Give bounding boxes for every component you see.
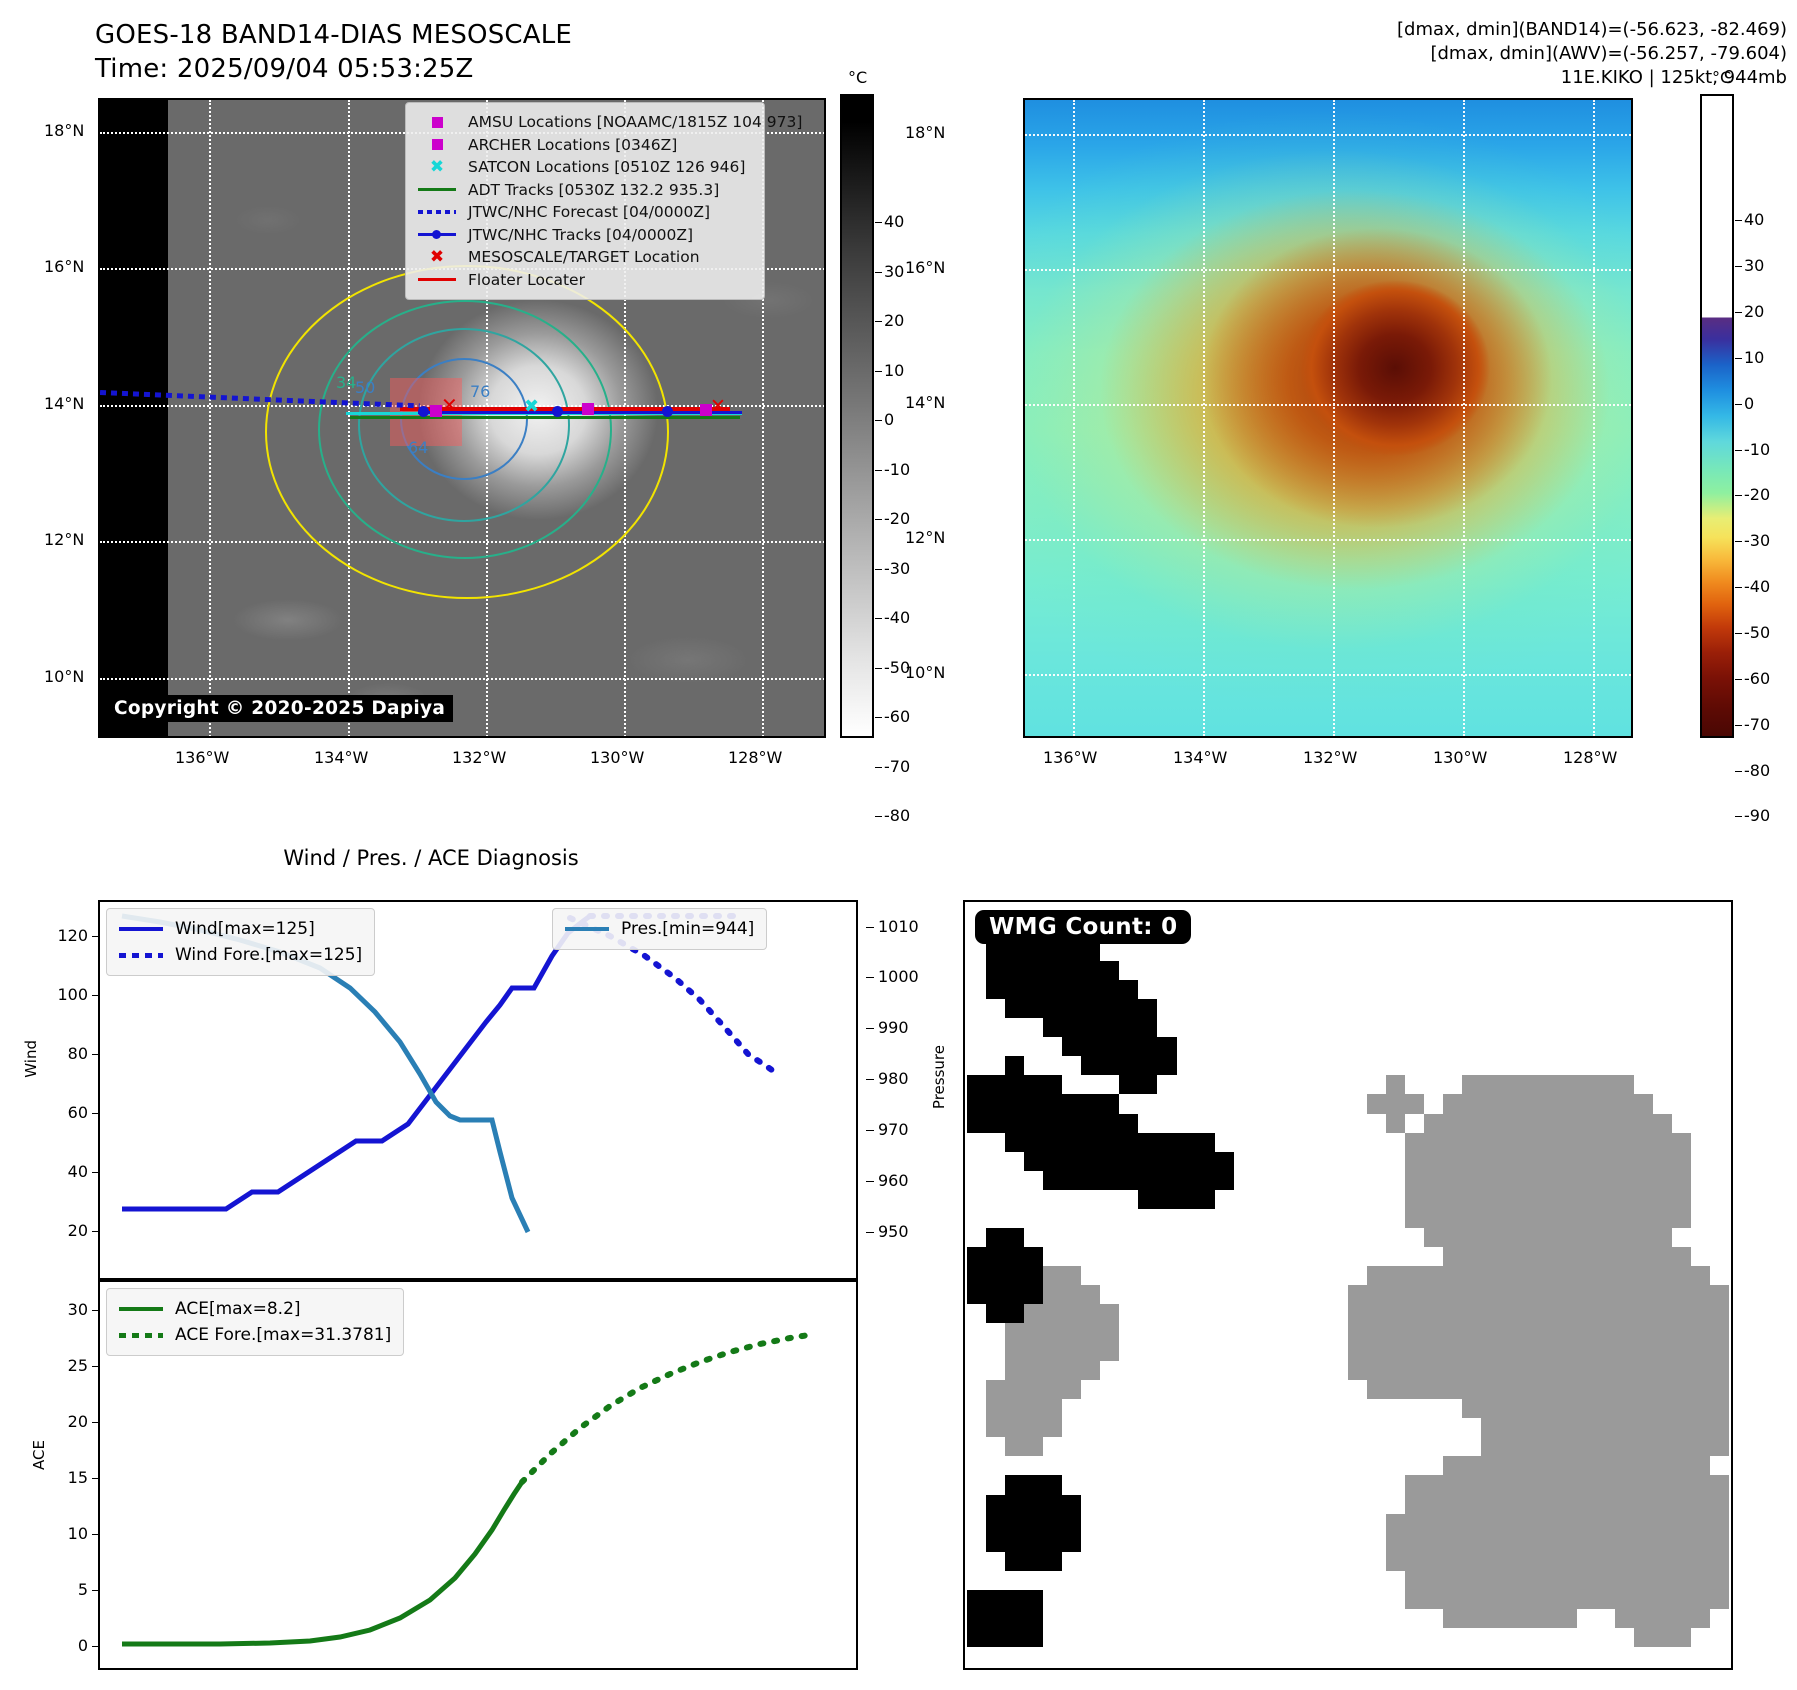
wmg-cell xyxy=(967,1056,986,1075)
wmg-cell xyxy=(1157,1285,1176,1304)
ir-lon-tick-130: 130°W xyxy=(590,748,644,767)
wmg-cell xyxy=(1234,1037,1253,1056)
wmg-cell xyxy=(1138,1361,1157,1380)
wmg-cell xyxy=(1081,1247,1100,1266)
wmg-cell xyxy=(1596,1304,1615,1323)
wmg-cell xyxy=(1691,1094,1710,1113)
wmg-cell xyxy=(1081,999,1100,1018)
wmg-cell xyxy=(1024,980,1043,999)
wmg-cell xyxy=(1196,961,1215,980)
wmg-cell xyxy=(1634,1056,1653,1075)
wmg-cell xyxy=(1348,1418,1367,1437)
wmg-cell xyxy=(1424,1342,1443,1361)
wmg-cell xyxy=(1558,961,1577,980)
wmg-cell xyxy=(1672,980,1691,999)
wmg-cell xyxy=(1691,1304,1710,1323)
wmg-cell xyxy=(1615,1323,1634,1342)
wmg-cell xyxy=(1538,1209,1557,1228)
wmg-cell xyxy=(1710,923,1729,942)
wmg-cell xyxy=(1538,1304,1557,1323)
wmg-cell xyxy=(1215,1152,1234,1171)
wmg-cell xyxy=(1253,923,1272,942)
wmg-cell xyxy=(1691,1266,1710,1285)
wmg-cell xyxy=(1348,1133,1367,1152)
wmg-cell xyxy=(1310,1152,1329,1171)
wmg-cell xyxy=(1481,1647,1500,1666)
wmg-cell xyxy=(1272,1056,1291,1075)
wmg-cell xyxy=(1577,961,1596,980)
wmg-cell xyxy=(967,1475,986,1494)
wmg-cell xyxy=(1329,904,1348,923)
wmg-cell xyxy=(1253,1247,1272,1266)
wmg-cell xyxy=(1691,1037,1710,1056)
wmg-cell xyxy=(1348,1514,1367,1533)
wmg-cell xyxy=(1272,1552,1291,1571)
wmg-cell xyxy=(1710,1475,1729,1494)
wmg-cell xyxy=(1615,1514,1634,1533)
wmg-cell xyxy=(1348,1437,1367,1456)
wmg-cell xyxy=(1348,980,1367,999)
legend-item-floater: Floater Locater xyxy=(414,269,754,292)
wmg-cell xyxy=(1443,1571,1462,1590)
wmg-cell xyxy=(1005,1437,1024,1456)
wmg-cell xyxy=(1710,1133,1729,1152)
wmg-cell xyxy=(1367,1266,1386,1285)
wmg-cell xyxy=(1043,1361,1062,1380)
wmg-cell xyxy=(1081,1475,1100,1494)
wmg-cell xyxy=(1386,1456,1405,1475)
wmg-cell xyxy=(1424,1571,1443,1590)
wmg-cell xyxy=(1157,1114,1176,1133)
wmg-cell xyxy=(1367,1475,1386,1494)
wmg-cell xyxy=(1615,1133,1634,1152)
wmg-cell xyxy=(1100,1456,1119,1475)
wmg-cell xyxy=(1577,1114,1596,1133)
wmg-cell xyxy=(1024,1647,1043,1666)
wmg-cell xyxy=(967,1018,986,1037)
wmg-cell xyxy=(1081,1342,1100,1361)
wmg-cell xyxy=(1196,1399,1215,1418)
wmg-cell xyxy=(1062,1380,1081,1399)
wmg-cell xyxy=(1081,1075,1100,1094)
wmg-cell xyxy=(1234,1380,1253,1399)
wmg-cell xyxy=(1329,1514,1348,1533)
wmg-cell xyxy=(1386,1094,1405,1113)
wmg-cell xyxy=(1386,1209,1405,1228)
wmg-cell xyxy=(1310,961,1329,980)
ir-satellite-map[interactable]: ✕ ✕ ✖ 34 50 64 76 AMSU Locations [NOAAMC… xyxy=(98,98,826,738)
ace-forecast-dotted-icon xyxy=(119,1333,163,1338)
wmg-cell xyxy=(986,1228,1005,1247)
wmg-cell xyxy=(1310,1437,1329,1456)
wmg-cell xyxy=(1310,1399,1329,1418)
wmg-cell xyxy=(1348,1361,1367,1380)
wmg-cell xyxy=(1500,1418,1519,1437)
wmg-cell xyxy=(1253,1018,1272,1037)
wmg-cell xyxy=(1558,1533,1577,1552)
wmg-cell xyxy=(1138,1056,1157,1075)
wmg-cell xyxy=(1462,1114,1481,1133)
wmg-cell xyxy=(1062,1590,1081,1609)
wind-pressure-chart[interactable]: Wind[max=125] Wind Fore.[max=125] Pres.[… xyxy=(98,900,858,1280)
wmg-cell xyxy=(1291,1190,1310,1209)
wmg-cell xyxy=(1196,923,1215,942)
stat-awv: [dmax, dmin](AWV)=(-56.257, -79.604) xyxy=(1397,42,1787,66)
wmg-cell xyxy=(1062,1495,1081,1514)
wmg-cell xyxy=(1558,1056,1577,1075)
wmg-cell xyxy=(1462,1418,1481,1437)
wmg-cell xyxy=(1310,1018,1329,1037)
wmg-cell xyxy=(1710,1380,1729,1399)
wmg-cell xyxy=(1005,1075,1024,1094)
satcon-x-icon: ✖ xyxy=(414,158,460,176)
wmg-cell xyxy=(1634,904,1653,923)
wmg-cell xyxy=(1462,904,1481,923)
wmg-cell xyxy=(1443,980,1462,999)
wmg-cell xyxy=(1481,1285,1500,1304)
wmg-cell xyxy=(1519,999,1538,1018)
jtwc-track-line xyxy=(418,411,742,414)
wmg-cell xyxy=(1424,942,1443,961)
wmg-cell xyxy=(1424,999,1443,1018)
wmg-cell xyxy=(986,980,1005,999)
gridline-lat-10 xyxy=(1025,674,1631,676)
wmg-cell xyxy=(1634,1609,1653,1628)
wmg-cell xyxy=(1538,1495,1557,1514)
wmg-cell xyxy=(1386,1114,1405,1133)
ace-chart[interactable]: ACE[max=8.2] ACE Fore.[max=31.3781] xyxy=(98,1280,858,1670)
wmg-cell xyxy=(1519,1552,1538,1571)
wmg-cell xyxy=(1462,1075,1481,1094)
wmg-cell xyxy=(1215,1075,1234,1094)
wmg-cell xyxy=(1386,1152,1405,1171)
wmg-cell xyxy=(967,1133,986,1152)
awv-cb-tick: 0 xyxy=(1744,394,1754,413)
awv-lat-tick-14: 14°N xyxy=(905,393,945,412)
wmg-cell xyxy=(1615,1018,1634,1037)
wmg-cell xyxy=(1653,1209,1672,1228)
wmg-cell xyxy=(1196,1285,1215,1304)
wmg-cell xyxy=(1481,1495,1500,1514)
wmg-cell xyxy=(1710,1152,1729,1171)
wmg-cell xyxy=(1653,1152,1672,1171)
wmg-cell xyxy=(1291,1571,1310,1590)
wmg-cell xyxy=(1024,1037,1043,1056)
wmg-cell xyxy=(1291,1094,1310,1113)
wmg-cell xyxy=(1405,1399,1424,1418)
wmg-cell xyxy=(1329,1475,1348,1494)
wmg-cell xyxy=(1367,1552,1386,1571)
wmg-cell xyxy=(1234,1190,1253,1209)
wmg-cell xyxy=(1234,1514,1253,1533)
awv-cb-tick: 30 xyxy=(1744,256,1764,275)
wmg-cell xyxy=(1291,1647,1310,1666)
wmg-cell xyxy=(1215,1361,1234,1380)
wmg-cell xyxy=(1615,1342,1634,1361)
wmg-cell xyxy=(1577,1552,1596,1571)
wmg-cell xyxy=(1272,1533,1291,1552)
wmg-cell xyxy=(1367,1323,1386,1342)
wmg-cell xyxy=(1062,1209,1081,1228)
wmg-cell xyxy=(967,1266,986,1285)
wmg-cell xyxy=(1519,1247,1538,1266)
wmg-cell xyxy=(1653,1590,1672,1609)
wmg-cell xyxy=(1519,1399,1538,1418)
wmg-cell xyxy=(1424,1209,1443,1228)
wmg-cell xyxy=(1196,1323,1215,1342)
wmg-cell xyxy=(1500,1571,1519,1590)
wmg-cell xyxy=(1615,1361,1634,1380)
legend-item-ace-forecast: ACE Fore.[max=31.3781] xyxy=(119,1322,391,1348)
wmg-cell xyxy=(1443,1609,1462,1628)
wmg-cell xyxy=(967,1361,986,1380)
wmg-cell xyxy=(967,1285,986,1304)
wmg-cell xyxy=(1215,1056,1234,1075)
wmg-cell xyxy=(1062,1171,1081,1190)
wmg-cell xyxy=(1481,1552,1500,1571)
wmg-cell xyxy=(986,1171,1005,1190)
wmg-cell xyxy=(1005,1247,1024,1266)
wmg-cell xyxy=(1710,1533,1729,1552)
wmg-cell xyxy=(1443,1647,1462,1666)
wmg-cell xyxy=(1443,1475,1462,1494)
wmg-cell xyxy=(1615,1609,1634,1628)
gridline-lat-18 xyxy=(1025,134,1631,136)
awv-satellite-map[interactable] xyxy=(963,98,1633,738)
wmg-cell xyxy=(1367,980,1386,999)
legend-label: AMSU Locations [NOAAMC/1815Z 104 973] xyxy=(468,111,802,134)
wmg-cell xyxy=(1348,999,1367,1018)
wmg-cell xyxy=(1215,923,1234,942)
wmg-cell xyxy=(1196,1571,1215,1590)
wmg-cell xyxy=(1348,1609,1367,1628)
ir-cb-tick: -10 xyxy=(884,460,910,479)
wmg-cell xyxy=(1672,1399,1691,1418)
wmg-cell xyxy=(1043,961,1062,980)
wmg-cell xyxy=(1710,1037,1729,1056)
wmg-cell xyxy=(1481,1514,1500,1533)
wmg-cell xyxy=(1615,980,1634,999)
wmg-cell xyxy=(1367,1171,1386,1190)
wmg-cell xyxy=(1558,999,1577,1018)
wmg-cell xyxy=(1005,1571,1024,1590)
page-title: GOES-18 BAND14-DIAS MESOSCALE Time: 2025… xyxy=(95,18,572,86)
wmg-cell xyxy=(1538,1323,1557,1342)
wmg-cell xyxy=(1481,1418,1500,1437)
wmg-cell xyxy=(1005,1533,1024,1552)
wmg-cell xyxy=(1481,1399,1500,1418)
wmg-cell xyxy=(1024,1114,1043,1133)
ace-forecast-line xyxy=(522,1334,815,1482)
wmg-cell xyxy=(1481,1190,1500,1209)
wmg-cell xyxy=(1462,1094,1481,1113)
awv-lon-tick-130: 130°W xyxy=(1433,748,1487,767)
mesoscale-x-icon: ✖ xyxy=(414,248,460,266)
wmg-cell xyxy=(1462,923,1481,942)
wmg-cell xyxy=(1443,1056,1462,1075)
wmg-cell xyxy=(1253,1571,1272,1590)
wmg-cell xyxy=(1100,1590,1119,1609)
wmg-cell xyxy=(1462,1342,1481,1361)
wmg-cell xyxy=(1653,1133,1672,1152)
ace-line-icon xyxy=(119,1307,163,1312)
wmg-cell xyxy=(1558,1037,1577,1056)
wmg-cell xyxy=(1500,1380,1519,1399)
wmg-cell xyxy=(1329,1609,1348,1628)
wmg-map-panel[interactable]: WMG Count: 0 xyxy=(963,900,1733,1670)
wmg-cell xyxy=(1386,1190,1405,1209)
ir-cb-tick: -80 xyxy=(884,806,910,825)
wmg-cell xyxy=(1481,1133,1500,1152)
wmg-cell xyxy=(1672,1590,1691,1609)
wmg-cell xyxy=(1081,1209,1100,1228)
wmg-cell xyxy=(1329,1285,1348,1304)
wmg-cell xyxy=(1234,1590,1253,1609)
wmg-cell xyxy=(1481,1628,1500,1647)
wmg-cell xyxy=(1005,1647,1024,1666)
wmg-cell xyxy=(1253,1628,1272,1647)
wmg-cell xyxy=(1386,1533,1405,1552)
wmg-cell xyxy=(1062,1399,1081,1418)
wmg-cell xyxy=(1138,1399,1157,1418)
wmg-cell xyxy=(1367,1133,1386,1152)
wmg-cell xyxy=(1310,1247,1329,1266)
legend-label: ACE[max=8.2] xyxy=(175,1296,301,1322)
wmg-cell xyxy=(1138,1647,1157,1666)
wmg-cell xyxy=(1253,1133,1272,1152)
wmg-cell xyxy=(1577,1247,1596,1266)
wmg-cell xyxy=(1024,1380,1043,1399)
wmg-cell xyxy=(1481,1590,1500,1609)
wmg-cell xyxy=(1081,942,1100,961)
wmg-cell xyxy=(1710,1323,1729,1342)
wmg-cell xyxy=(1062,961,1081,980)
wmg-cell xyxy=(1596,1514,1615,1533)
wmg-cell xyxy=(1177,980,1196,999)
wmg-cell xyxy=(1443,1380,1462,1399)
wmg-cell xyxy=(1519,1495,1538,1514)
wmg-cell xyxy=(1538,1571,1557,1590)
wmg-cell xyxy=(1177,1533,1196,1552)
wmg-cell xyxy=(1177,1628,1196,1647)
wmg-cell xyxy=(1291,1342,1310,1361)
wmg-cell xyxy=(1234,1399,1253,1418)
wmg-cell xyxy=(1462,1495,1481,1514)
wmg-cell xyxy=(1405,1018,1424,1037)
wmg-cell xyxy=(1253,1380,1272,1399)
jtwc-forecast-dotted-icon xyxy=(414,203,460,221)
wmg-cell xyxy=(1558,1647,1577,1666)
wmg-cell xyxy=(1462,1552,1481,1571)
wmg-cell xyxy=(1519,1190,1538,1209)
wmg-cell xyxy=(1634,1456,1653,1475)
wmg-cell xyxy=(1138,1247,1157,1266)
wmg-cell xyxy=(1138,961,1157,980)
wmg-cell xyxy=(1367,1094,1386,1113)
wmg-cell xyxy=(1138,1114,1157,1133)
wmg-cell xyxy=(1081,980,1100,999)
wmg-cell xyxy=(1157,1533,1176,1552)
wmg-cell xyxy=(1710,1647,1729,1666)
wmg-cell xyxy=(1157,1437,1176,1456)
wmg-cell xyxy=(1157,1342,1176,1361)
ir-cb-tick: 40 xyxy=(884,212,904,231)
wmg-cell xyxy=(1710,1571,1729,1590)
wmg-cell xyxy=(1424,1437,1443,1456)
wmg-cell xyxy=(1405,923,1424,942)
wmg-cell xyxy=(1691,1323,1710,1342)
wmg-cell xyxy=(1386,1552,1405,1571)
jtwc-track-point xyxy=(418,406,429,417)
wmg-cell xyxy=(1653,1247,1672,1266)
wmg-cell xyxy=(1310,1114,1329,1133)
wmg-cell xyxy=(1558,1495,1577,1514)
wind-ytick: 40 xyxy=(44,1162,88,1181)
wmg-cell xyxy=(1215,1418,1234,1437)
wmg-cell xyxy=(1157,1152,1176,1171)
wmg-cell xyxy=(1310,904,1329,923)
wmg-cell xyxy=(1443,1304,1462,1323)
stat-band14: [dmax, dmin](BAND14)=(-56.623, -82.469) xyxy=(1397,18,1787,42)
wmg-cell xyxy=(1215,942,1234,961)
wmg-cell xyxy=(1177,1075,1196,1094)
wmg-cell xyxy=(1196,942,1215,961)
wmg-cell xyxy=(1138,1571,1157,1590)
wmg-cell xyxy=(1691,1285,1710,1304)
contour-label-34: 34 xyxy=(336,373,356,392)
wmg-cell xyxy=(1424,1514,1443,1533)
wmg-cell xyxy=(986,1037,1005,1056)
wmg-cell xyxy=(1291,1209,1310,1228)
legend-item-pressure: Pres.[min=944] xyxy=(565,916,754,942)
wmg-cell xyxy=(1443,1628,1462,1647)
wmg-cell xyxy=(1462,942,1481,961)
wmg-cell xyxy=(1577,1266,1596,1285)
wmg-cell xyxy=(1138,1266,1157,1285)
wmg-cell xyxy=(1024,1514,1043,1533)
wmg-cell xyxy=(1481,1018,1500,1037)
wmg-cell xyxy=(1596,1285,1615,1304)
wmg-cell xyxy=(1443,1247,1462,1266)
wmg-cell xyxy=(1367,1056,1386,1075)
wmg-cell xyxy=(1367,1152,1386,1171)
ir-cb-tick: 0 xyxy=(884,410,894,429)
wmg-cell xyxy=(1177,1247,1196,1266)
wmg-cell xyxy=(1177,1475,1196,1494)
wmg-cell xyxy=(1577,1133,1596,1152)
wmg-cell xyxy=(1005,1228,1024,1247)
wmg-cell xyxy=(1100,1399,1119,1418)
wmg-cell xyxy=(1138,1171,1157,1190)
wmg-cell xyxy=(967,1247,986,1266)
wmg-cell xyxy=(1424,980,1443,999)
wmg-cell xyxy=(1558,1171,1577,1190)
wmg-cell xyxy=(1653,961,1672,980)
wmg-cell xyxy=(967,961,986,980)
wmg-cell xyxy=(1005,1514,1024,1533)
wmg-cell xyxy=(1538,980,1557,999)
wmg-cell xyxy=(1157,1037,1176,1056)
jtwc-track-line-icon xyxy=(414,226,460,244)
wmg-cell xyxy=(1710,1590,1729,1609)
wmg-cell xyxy=(1577,1209,1596,1228)
wmg-cell xyxy=(1138,1323,1157,1342)
wmg-cell xyxy=(1596,980,1615,999)
wmg-cell xyxy=(1234,1209,1253,1228)
wmg-cell xyxy=(1100,1475,1119,1494)
pressure-ytick: 970 xyxy=(878,1120,909,1139)
wmg-cell xyxy=(1329,1037,1348,1056)
